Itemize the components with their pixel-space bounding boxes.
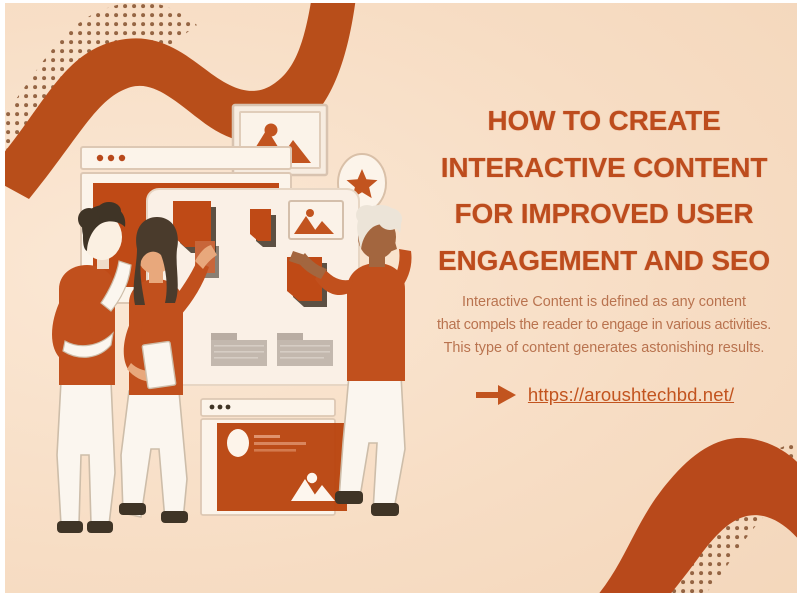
headline-line-4: ENGAGEMENT AND SEO xyxy=(405,247,797,275)
window-dots xyxy=(210,405,231,410)
body-paragraph: Interactive Content is defined as any co… xyxy=(409,291,797,359)
browser-window-social-post xyxy=(201,399,347,515)
headline-line-1: HOW TO CREATE xyxy=(405,107,797,135)
headline-line-2: INTERACTIVE CONTENT xyxy=(405,154,797,182)
board-thumbnail xyxy=(289,201,343,239)
wave-dots-bottom-right xyxy=(653,441,797,593)
cta-row[interactable]: https://aroushtechbd.net/ xyxy=(409,382,797,408)
body-line-3: This type of content generates astonishi… xyxy=(411,337,797,360)
poster-canvas: HOW TO CREATE INTERACTIVE CONTENT FOR IM… xyxy=(5,3,797,593)
body-line-1: Interactive Content is defined as any co… xyxy=(411,291,797,314)
headline-line-3: FOR IMPROVED USER xyxy=(405,200,797,228)
window-dots xyxy=(97,155,125,161)
arrow-right-icon xyxy=(474,382,518,408)
text-panel: HOW TO CREATE INTERACTIVE CONTENT FOR IM… xyxy=(409,107,797,408)
illustration xyxy=(5,3,425,593)
site-url-link[interactable]: https://aroushtechbd.net/ xyxy=(528,384,734,406)
wave-solid-bottom-right xyxy=(591,438,797,593)
post-avatar xyxy=(227,429,249,457)
poster: HOW TO CREATE INTERACTIVE CONTENT FOR IM… xyxy=(0,0,800,600)
body-line-2: that compels the reader to engage in var… xyxy=(411,314,797,337)
